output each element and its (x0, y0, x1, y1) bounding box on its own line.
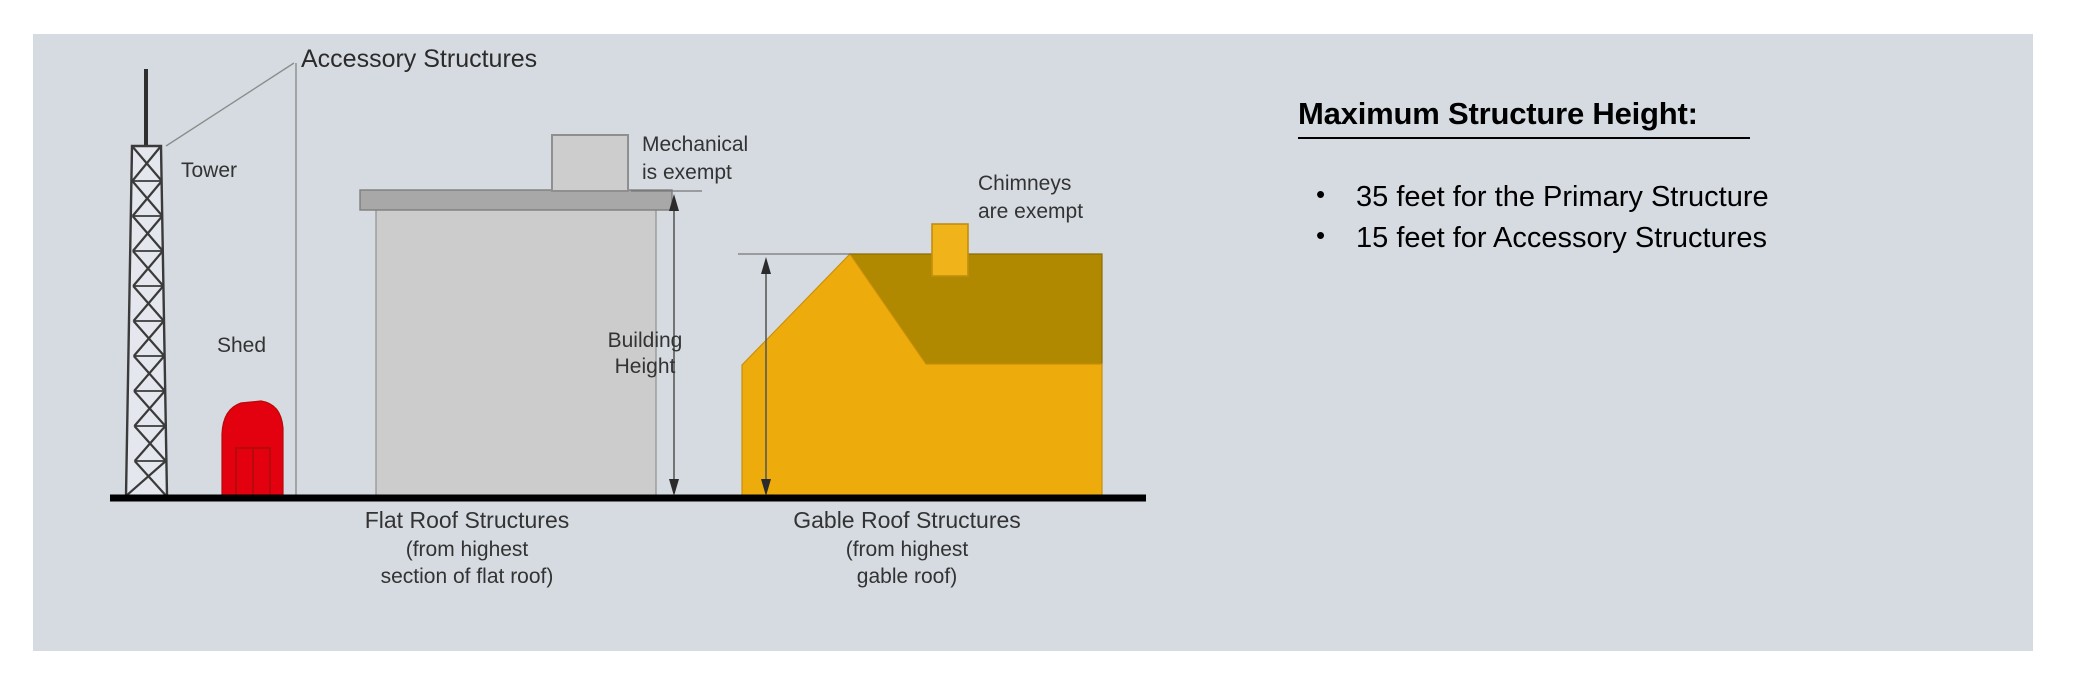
caption-flat-roof: Flat Roof Structures (from highest secti… (365, 507, 570, 588)
flat-dimension-arrow-bottom (669, 479, 679, 496)
caption-gable-roof-sub1: (from highest (846, 538, 969, 561)
flat-building-roof-slab (360, 190, 672, 210)
flat-building-wall (376, 209, 656, 497)
label-accessory-structures: Accessory Structures (301, 45, 537, 73)
label-building-height-line1: Building (608, 329, 683, 352)
label-tower: Tower (181, 159, 237, 182)
caption-flat-roof-title: Flat Roof Structures (365, 507, 570, 533)
gable-roof-building (742, 224, 1102, 497)
bullet-item-accessory-structures: 15 feet for Accessory Structures (1316, 218, 1998, 259)
tower-structure (126, 69, 167, 496)
label-building-height-line2: Height (615, 355, 676, 378)
caption-gable-roof: Gable Roof Structures (from highest gabl… (793, 507, 1021, 588)
flat-roof-building (360, 135, 672, 497)
caption-gable-roof-title: Gable Roof Structures (793, 507, 1021, 533)
label-mechanical-line2: is exempt (642, 161, 732, 184)
bullet-item-primary-structure: 35 feet for the Primary Structure (1316, 177, 1998, 218)
shed-structure (222, 401, 283, 497)
info-panel-heading: Maximum Structure Height: (1298, 96, 1750, 139)
max-height-info-panel: Maximum Structure Height: 35 feet for th… (1298, 96, 1998, 259)
mechanical-unit (552, 135, 628, 191)
caption-gable-roof-sub2: gable roof) (857, 565, 957, 588)
label-chimneys-line1: Chimneys (978, 172, 1071, 195)
max-height-bullet-list: 35 feet for the Primary Structure 15 fee… (1298, 177, 1998, 259)
chimney (932, 224, 968, 276)
label-shed: Shed (217, 334, 266, 357)
label-mechanical-line1: Mechanical (642, 133, 748, 156)
label-chimneys-line2: are exempt (978, 200, 1083, 223)
gable-dimension-arrow-top (761, 257, 771, 274)
diagram-panel: Accessory Structures Tower Shed Mechanic… (33, 34, 2033, 651)
caption-flat-roof-sub1: (from highest (406, 538, 529, 561)
leader-line-tower (166, 63, 294, 146)
caption-flat-roof-sub2: section of flat roof) (381, 565, 554, 588)
